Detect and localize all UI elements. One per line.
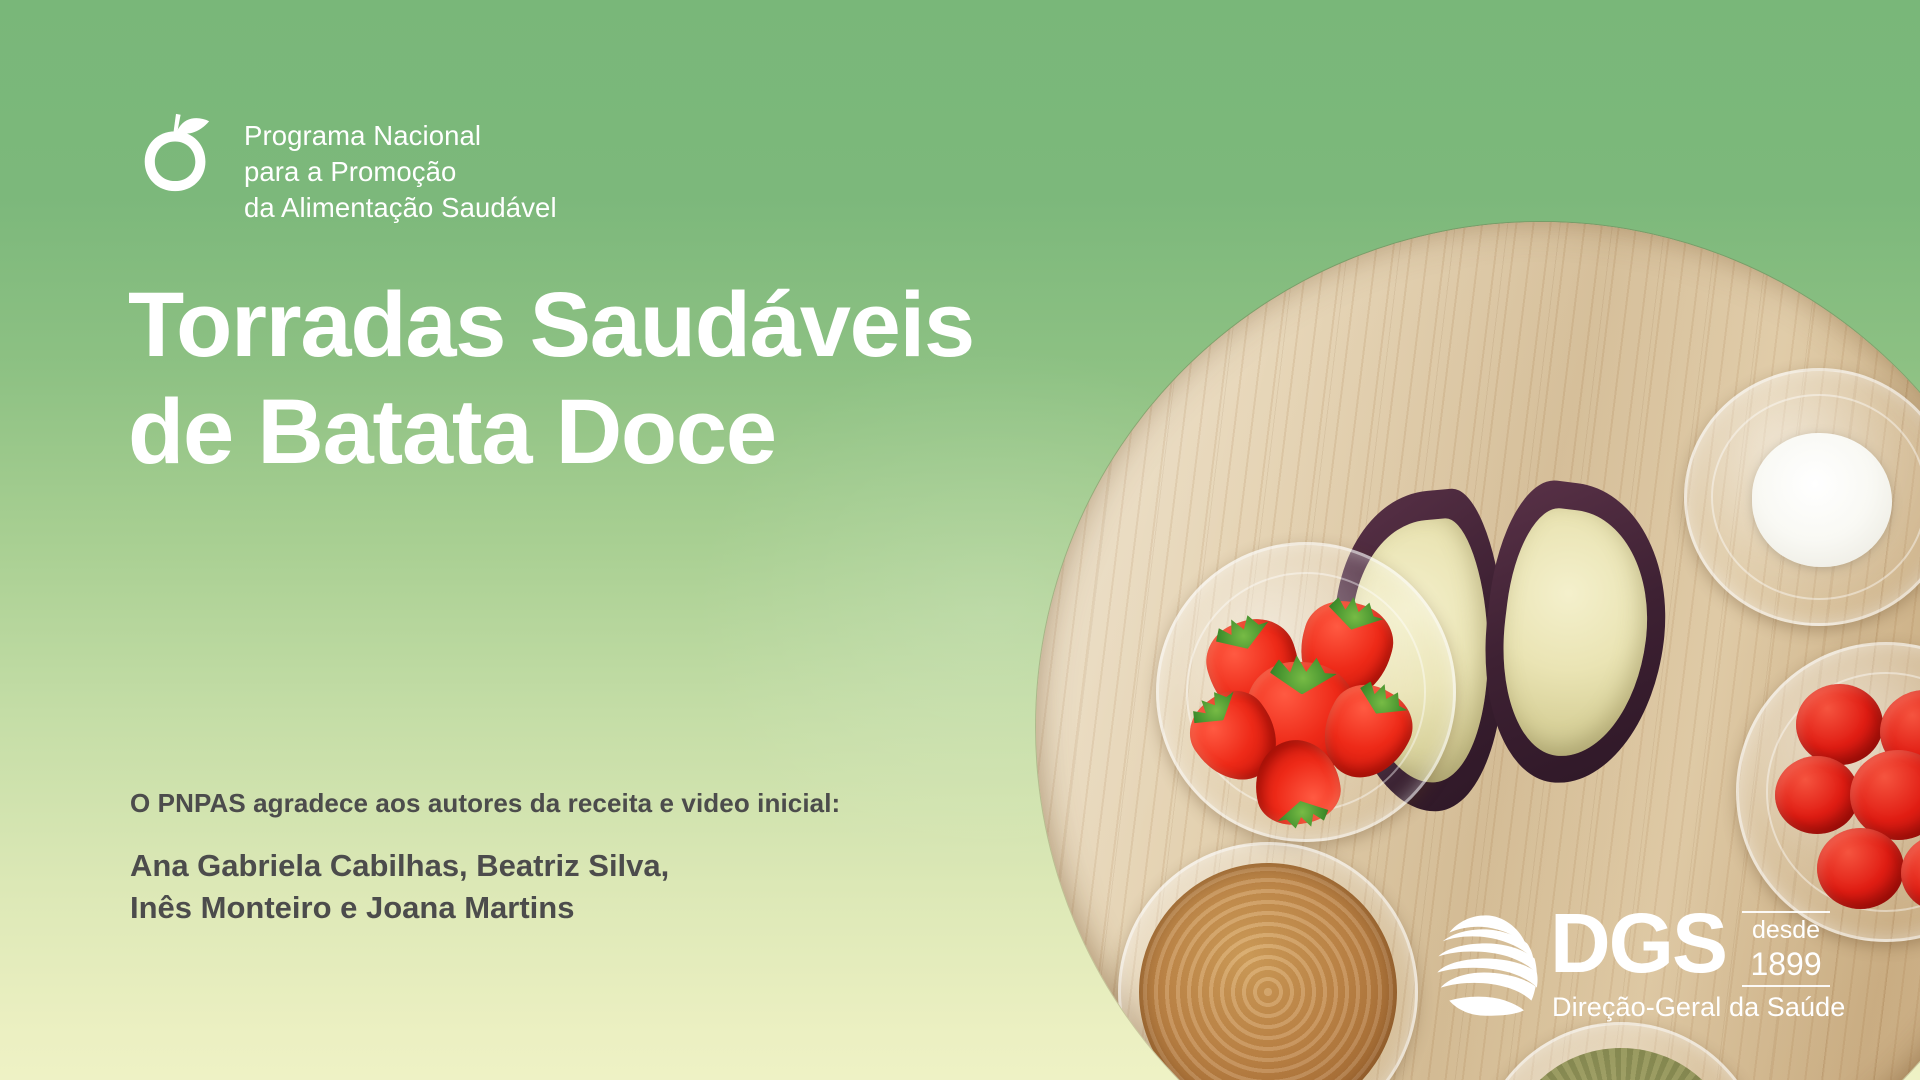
cherry-tomato — [1796, 684, 1883, 765]
dgs-subtitle: Direção-Geral da Saúde — [1552, 992, 1845, 1023]
pnpas-line-1: Programa Nacional — [244, 118, 557, 154]
strawberries-bowl — [1156, 542, 1456, 842]
cherry-tomato — [1817, 828, 1904, 909]
yogurt-content — [1752, 433, 1892, 567]
title-line-1: Torradas Saudáveis — [128, 272, 974, 379]
author-line-1: Ana Gabriela Cabilhas, Beatriz Silva, — [130, 845, 840, 887]
dgs-rule-bottom — [1742, 985, 1830, 987]
author-line-2: Inês Monteiro e Joana Martins — [130, 887, 840, 929]
dgs-since-year: 1899 — [1742, 948, 1830, 986]
globe-icon — [1432, 911, 1540, 1019]
apple-outline-icon — [130, 105, 222, 200]
credits-block: O PNPAS agradece aos autores da receita … — [130, 788, 840, 929]
dgs-top-row: DGS desde 1899 — [1550, 905, 1845, 987]
pnpas-line-2: para a Promoção — [244, 154, 557, 190]
sweet-potato-slice-right — [1468, 474, 1681, 793]
slide-canvas: Programa Nacional para a Promoção da Ali… — [0, 0, 1920, 1080]
credits-author-names: Ana Gabriela Cabilhas, Beatriz Silva, In… — [130, 845, 840, 929]
pnpas-logo-text: Programa Nacional para a Promoção da Ali… — [244, 105, 557, 225]
title-line-2: de Batata Doce — [128, 379, 974, 486]
pnpas-line-3: da Alimentação Saudável — [244, 190, 557, 226]
pnpas-logo: Programa Nacional para a Promoção da Ali… — [130, 105, 557, 225]
cherry-tomato — [1775, 756, 1859, 834]
page-title: Torradas Saudáveis de Batata Doce — [128, 272, 974, 485]
dgs-acronym: DGS — [1550, 905, 1726, 982]
credits-lead-text: O PNPAS agradece aos autores da receita … — [130, 788, 840, 819]
dgs-since-block: desde 1899 — [1742, 911, 1830, 987]
dgs-logo: DGS desde 1899 Direção-Geral da Saúde — [1432, 905, 1845, 1023]
dgs-since-label: desde — [1742, 913, 1830, 948]
dgs-logo-text: DGS desde 1899 Direção-Geral da Saúde — [1550, 905, 1845, 1023]
